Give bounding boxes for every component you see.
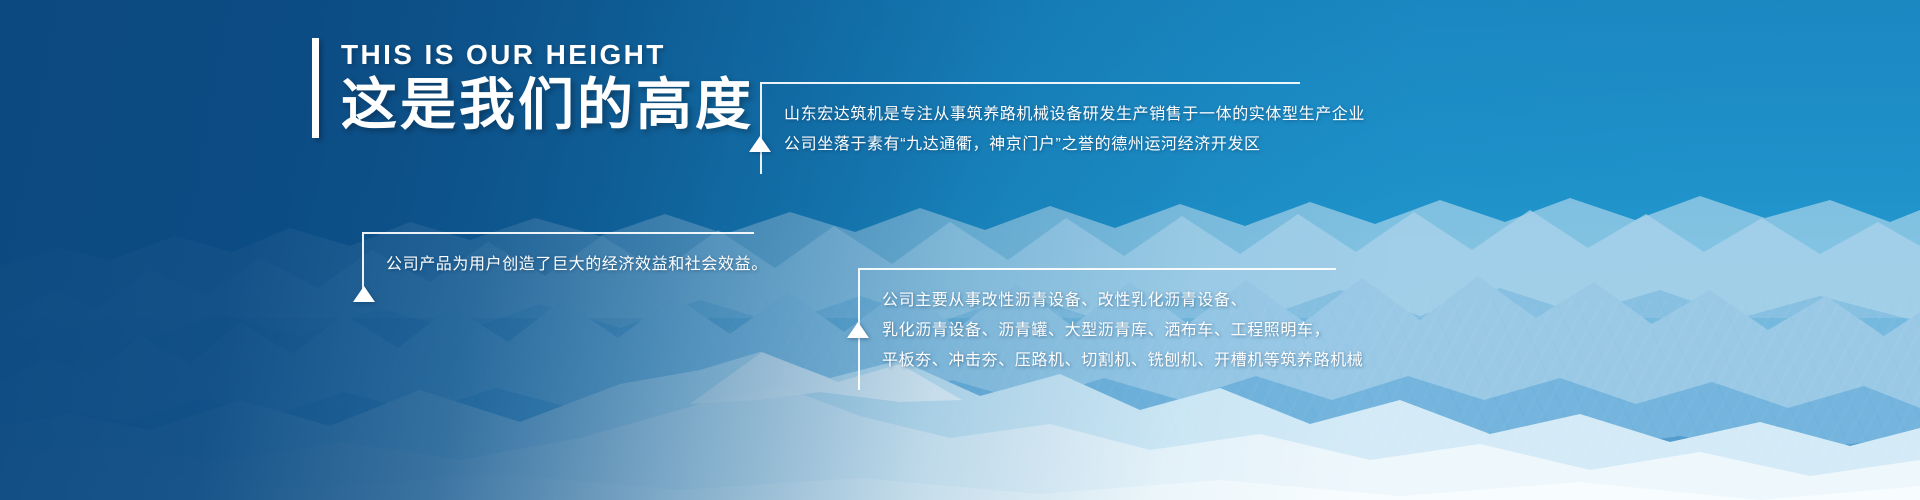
headline-accent-bar xyxy=(312,38,319,138)
callout-company-body: 山东宏达筑机是专注从事筑养路机械设备研发生产销售于一体的实体型生产企业 公司坐落… xyxy=(762,84,1300,174)
callout-products: 公司主要从事改性沥青设备、改性乳化沥青设备、 乳化沥青设备、沥青罐、大型沥青库、… xyxy=(858,268,1336,390)
callout-company-line-2: 公司坐落于素有“九达通衢，神京门户”之誉的德州运河经济开发区 xyxy=(784,130,1300,160)
triangle-up-marker xyxy=(749,136,771,152)
triangle-up-marker xyxy=(847,322,869,338)
headline-chinese: 这是我们的高度 xyxy=(341,72,754,138)
hero-banner: THIS IS OUR HEIGHT 这是我们的高度 山东宏达筑机是专注从事筑养… xyxy=(0,0,1920,500)
callout-products-body: 公司主要从事改性沥青设备、改性乳化沥青设备、 乳化沥青设备、沥青罐、大型沥青库、… xyxy=(860,270,1336,390)
callout-company: 山东宏达筑机是专注从事筑养路机械设备研发生产销售于一体的实体型生产企业 公司坐落… xyxy=(760,82,1300,174)
callout-products-line-1: 公司主要从事改性沥青设备、改性乳化沥青设备、 xyxy=(882,286,1336,316)
headline-text-group: THIS IS OUR HEIGHT 这是我们的高度 xyxy=(341,38,754,138)
triangle-up-marker xyxy=(353,286,375,302)
callout-benefit: 公司产品为用户创造了巨大的经济效益和社会效益。 xyxy=(362,232,754,294)
callout-company-frame: 山东宏达筑机是专注从事筑养路机械设备研发生产销售于一体的实体型生产企业 公司坐落… xyxy=(760,82,1300,174)
callout-products-line-2: 乳化沥青设备、沥青罐、大型沥青库、洒布车、工程照明车， xyxy=(882,316,1336,346)
callout-products-frame: 公司主要从事改性沥青设备、改性乳化沥青设备、 乳化沥青设备、沥青罐、大型沥青库、… xyxy=(858,268,1336,390)
headline-block: THIS IS OUR HEIGHT 这是我们的高度 xyxy=(312,38,754,138)
callout-benefit-line-1: 公司产品为用户创造了巨大的经济效益和社会效益。 xyxy=(386,250,754,280)
headline-english: THIS IS OUR HEIGHT xyxy=(341,38,754,72)
callout-company-line-1: 山东宏达筑机是专注从事筑养路机械设备研发生产销售于一体的实体型生产企业 xyxy=(784,100,1300,130)
callout-benefit-frame: 公司产品为用户创造了巨大的经济效益和社会效益。 xyxy=(362,232,754,294)
callout-benefit-body: 公司产品为用户创造了巨大的经济效益和社会效益。 xyxy=(364,234,754,294)
callout-products-line-3: 平板夯、冲击夯、压路机、切割机、铣刨机、开槽机等筑养路机械 xyxy=(882,346,1336,376)
